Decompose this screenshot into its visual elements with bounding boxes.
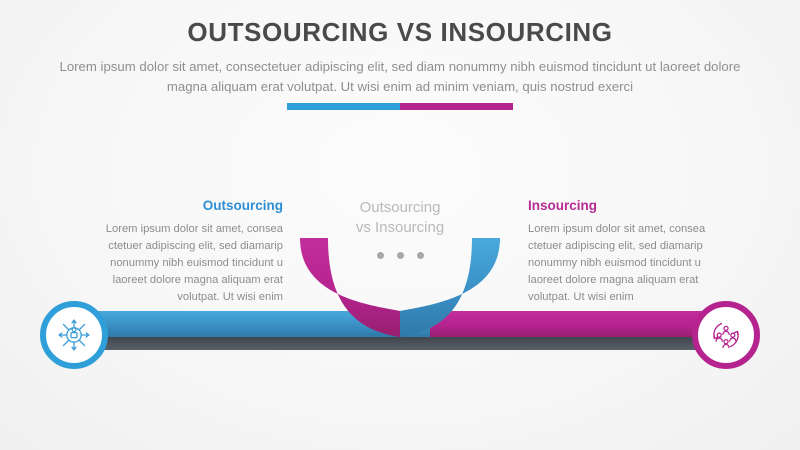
divider-segment-blue [287,103,400,110]
insourcing-heading: Insourcing [528,198,733,214]
center-dot [417,252,424,259]
center-dots [320,252,480,259]
insourcing-column: Insourcing Lorem ipsum dolor sit amet, c… [528,198,733,306]
divider-segment-magenta [400,103,513,110]
outsourcing-badge[interactable] [40,301,108,369]
outsourcing-body-text: Lorem ipsum dolor sit amet, consea ctetu… [78,221,283,306]
center-dot [377,252,384,259]
header-divider [287,103,513,110]
center-dot [397,252,404,259]
center-label-line-1: Outsourcing [320,198,480,218]
page-title: OUTSOURCING VS INSOURCING [0,18,800,47]
right-magenta-bar [430,311,730,337]
outsourcing-heading: Outsourcing [78,198,283,214]
center-label-line-2: vs Insourcing [320,218,480,238]
center-label: Outsourcing vs Insourcing [320,198,480,237]
outsourcing-column: Outsourcing Lorem ipsum dolor sit amet, … [78,198,283,306]
team-cycle-icon [708,317,744,353]
header-block: OUTSOURCING VS INSOURCING Lorem ipsum do… [0,18,800,98]
insourcing-badge[interactable] [692,301,760,369]
insourcing-body-text: Lorem ipsum dolor sit amet, consea ctetu… [528,221,733,306]
network-person-icon [56,317,92,353]
subtitle-line-1: Lorem ipsum dolor sit amet, consectetuer… [60,59,657,74]
page-subtitle: Lorem ipsum dolor sit amet, consectetuer… [55,57,745,98]
